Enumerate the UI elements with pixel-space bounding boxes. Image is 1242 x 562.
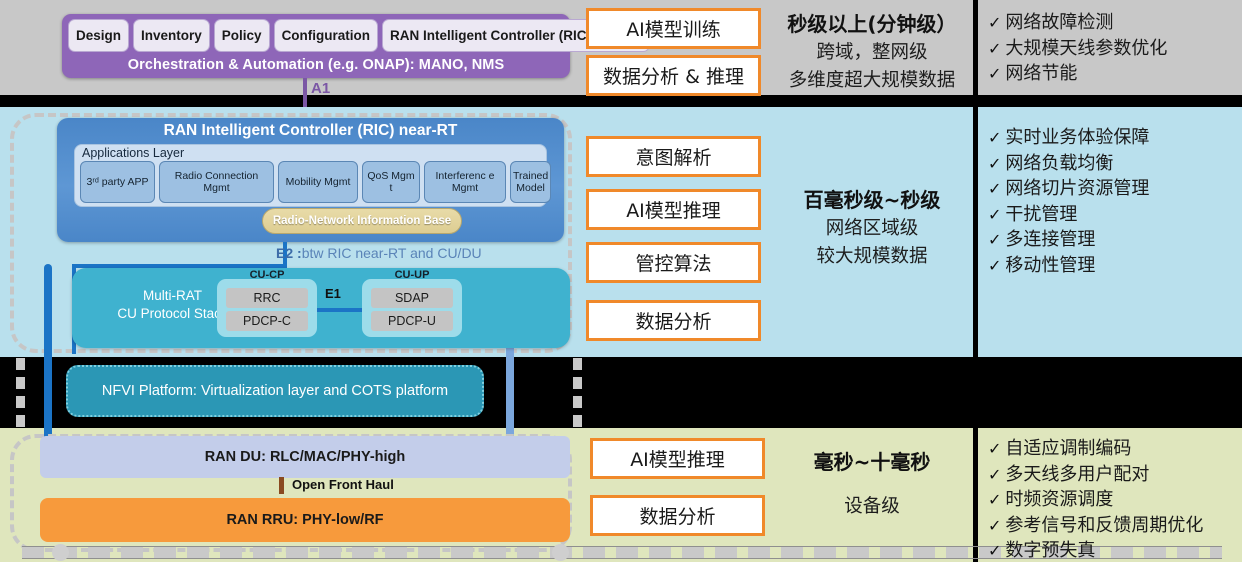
scale-top-headline: 秒级以上(分钟级） xyxy=(772,10,972,39)
column-divider-bottom xyxy=(973,428,978,562)
scale-top: 秒级以上(分钟级） 跨域，整网级 多维度超大规模数据 xyxy=(772,10,972,95)
pill-configuration[interactable]: Configuration xyxy=(274,19,378,52)
band-divider-top xyxy=(0,95,1242,107)
scale-bottom: 毫秒~十毫秒 设备级 xyxy=(772,448,972,521)
check-icon: ✓ xyxy=(988,12,1001,35)
protocol-pdcp-u: PDCP-U xyxy=(371,311,453,331)
dashed-separator-right xyxy=(573,358,582,428)
orchestration-pill-row: Design Inventory Policy Configuration RA… xyxy=(68,19,564,52)
list-item: ✓数字预失真 xyxy=(988,538,1238,562)
app-3rd-party[interactable]: 3ʳᵈ party APP xyxy=(80,161,155,203)
cu-cp-header: CU-CP xyxy=(217,269,317,281)
check-icon: ✓ xyxy=(988,63,1001,86)
app-mobility-mgmt[interactable]: Mobility Mgmt xyxy=(278,161,358,203)
protocol-rrc: RRC xyxy=(226,288,308,308)
list-item: ✓网络故障检测 xyxy=(988,10,1238,36)
list-item: ✓实时业务体验保障 xyxy=(988,125,1238,151)
check-icon: ✓ xyxy=(988,38,1001,61)
pill-policy[interactable]: Policy xyxy=(214,19,270,52)
applications-row: 3ʳᵈ party APP Radio Connection Mgmt Mobi… xyxy=(80,161,541,203)
check-icon: ✓ xyxy=(988,540,1001,562)
list-item: ✓自适应调制编码 xyxy=(988,436,1238,462)
usecase-list-middle: ✓实时业务体验保障 ✓网络负载均衡 ✓网络切片资源管理 ✓干扰管理 ✓多连接管理… xyxy=(988,125,1238,278)
usecase-label: 大规模天线参数优化 xyxy=(1005,36,1167,62)
scale-middle-headline: 百毫秒级~秒级 xyxy=(772,186,972,215)
scale-top-line-1: 跨域，整网级 xyxy=(772,39,972,67)
function-box-intent-parsing[interactable]: 意图解析 xyxy=(586,136,761,177)
app-radio-connection[interactable]: Radio Connection Mgmt xyxy=(159,161,274,203)
column-divider-top xyxy=(973,0,978,95)
ric-near-rt-block: RAN Intelligent Controller (RIC) near-RT… xyxy=(57,118,564,242)
list-item: ✓干扰管理 xyxy=(988,202,1238,228)
cu-protocol-stack: Multi-RAT CU Protocol Stack CU-CP RRC PD… xyxy=(72,268,570,348)
list-item: ✓多连接管理 xyxy=(988,227,1238,253)
usecase-label: 移动性管理 xyxy=(1005,253,1095,279)
ran-du-block: RAN DU: RLC/MAC/PHY-high xyxy=(40,436,570,478)
app-interference-mgmt[interactable]: Interferenc e Mgmt xyxy=(424,161,506,203)
list-item: ✓大规模天线参数优化 xyxy=(988,36,1238,62)
usecase-label: 多连接管理 xyxy=(1005,227,1095,253)
usecase-label: 参考信号和反馈周期优化 xyxy=(1005,513,1203,539)
diagram-canvas: Design Inventory Policy Configuration RA… xyxy=(0,0,1242,562)
cu-cp-box: CU-CP RRC PDCP-C xyxy=(217,279,317,337)
e2-label-rest: btw RIC near-RT and CU/DU xyxy=(302,245,482,261)
function-box-control-algorithm[interactable]: 管控算法 xyxy=(586,242,761,283)
dashed-separator-left xyxy=(16,358,25,428)
function-box-ai-inference-mid[interactable]: AI模型推理 xyxy=(586,189,761,230)
a1-interface-label: A1 xyxy=(311,80,330,97)
check-icon: ✓ xyxy=(988,438,1001,461)
usecase-list-top: ✓网络故障检测 ✓大规模天线参数优化 ✓网络节能 xyxy=(988,10,1238,87)
usecase-label: 数字预失真 xyxy=(1005,538,1095,562)
list-item: ✓多天线多用户配对 xyxy=(988,462,1238,488)
usecase-label: 网络故障检测 xyxy=(1005,10,1113,36)
function-box-data-analysis-bottom[interactable]: 数据分析 xyxy=(590,495,765,536)
open-front-haul-label: Open Front Haul xyxy=(292,477,394,492)
usecase-label: 网络节能 xyxy=(1005,61,1077,87)
pill-design[interactable]: Design xyxy=(68,19,129,52)
e1-connector-line xyxy=(317,308,362,312)
list-item: ✓移动性管理 xyxy=(988,253,1238,279)
e1-interface-label: E1 xyxy=(325,286,341,301)
protocol-sdap: SDAP xyxy=(371,288,453,308)
radio-network-information-base: Radio-Network Information Base xyxy=(262,208,462,234)
check-icon: ✓ xyxy=(988,464,1001,487)
check-icon: ✓ xyxy=(988,255,1001,278)
scale-top-line-2: 多维度超大规模数据 xyxy=(772,67,972,95)
usecase-label: 网络负载均衡 xyxy=(1005,151,1113,177)
usecase-label: 实时业务体验保障 xyxy=(1005,125,1149,151)
check-icon: ✓ xyxy=(988,127,1001,150)
e2-label-bold: E2 : xyxy=(276,245,302,261)
list-item: ✓网络节能 xyxy=(988,61,1238,87)
list-item: ✓参考信号和反馈周期优化 xyxy=(988,513,1238,539)
nfvi-platform-block: NFVI Platform: Virtualization layer and … xyxy=(66,365,484,417)
check-icon: ✓ xyxy=(988,204,1001,227)
ran-rru-block: RAN RRU: PHY-low/RF xyxy=(40,498,570,542)
check-icon: ✓ xyxy=(988,489,1001,512)
timeline-left-handle xyxy=(52,544,69,561)
list-item: ✓网络负载均衡 xyxy=(988,151,1238,177)
list-item: ✓时频资源调度 xyxy=(988,487,1238,513)
scale-middle: 百毫秒级~秒级 网络区域级 较大规模数据 xyxy=(772,186,972,271)
applications-layer: Applications Layer 3ʳᵈ party APP Radio C… xyxy=(74,144,547,207)
pill-inventory[interactable]: Inventory xyxy=(133,19,210,52)
scale-bottom-line-1: 设备级 xyxy=(772,493,972,521)
list-item: ✓网络切片资源管理 xyxy=(988,176,1238,202)
usecase-label: 多天线多用户配对 xyxy=(1005,462,1149,488)
check-icon: ✓ xyxy=(988,178,1001,201)
check-icon: ✓ xyxy=(988,515,1001,538)
function-box-data-analysis-mid[interactable]: 数据分析 xyxy=(586,300,761,341)
open-front-haul-marker xyxy=(279,477,284,494)
timeline-right-handle xyxy=(552,544,569,561)
usecase-label: 时频资源调度 xyxy=(1005,487,1113,513)
cu-up-box: CU-UP SDAP PDCP-U xyxy=(362,279,462,337)
orchestration-caption: Orchestration & Automation (e.g. ONAP): … xyxy=(62,57,570,73)
applications-layer-label: Applications Layer xyxy=(82,146,184,160)
scale-middle-line-2: 较大规模数据 xyxy=(772,243,972,271)
usecase-list-bottom: ✓自适应调制编码 ✓多天线多用户配对 ✓时频资源调度 ✓参考信号和反馈周期优化 … xyxy=(988,436,1238,562)
function-box-ai-training[interactable]: AI模型训练 xyxy=(586,8,761,49)
function-box-data-analysis-inference[interactable]: 数据分析 & 推理 xyxy=(586,55,761,96)
function-box-ai-inference-bottom[interactable]: AI模型推理 xyxy=(590,438,765,479)
app-qos-mgmt[interactable]: QoS Mgm t xyxy=(362,161,420,203)
scale-middle-line-1: 网络区域级 xyxy=(772,215,972,243)
usecase-label: 网络切片资源管理 xyxy=(1005,176,1149,202)
cu-up-header: CU-UP xyxy=(362,269,462,281)
usecase-label: 干扰管理 xyxy=(1005,202,1077,228)
ric-near-rt-title: RAN Intelligent Controller (RIC) near-RT xyxy=(57,122,564,140)
orchestration-block: Design Inventory Policy Configuration RA… xyxy=(62,14,570,78)
protocol-pdcp-c: PDCP-C xyxy=(226,311,308,331)
e2-interface-label: E2 :btw RIC near-RT and CU/DU xyxy=(276,245,482,261)
usecase-label: 自适应调制编码 xyxy=(1005,436,1131,462)
check-icon: ✓ xyxy=(988,229,1001,252)
a1-connector-line xyxy=(303,78,307,107)
scale-bottom-headline: 毫秒~十毫秒 xyxy=(772,448,972,477)
column-divider-middle xyxy=(973,107,978,357)
check-icon: ✓ xyxy=(988,153,1001,176)
app-trained-model[interactable]: Trained Model xyxy=(510,161,551,203)
